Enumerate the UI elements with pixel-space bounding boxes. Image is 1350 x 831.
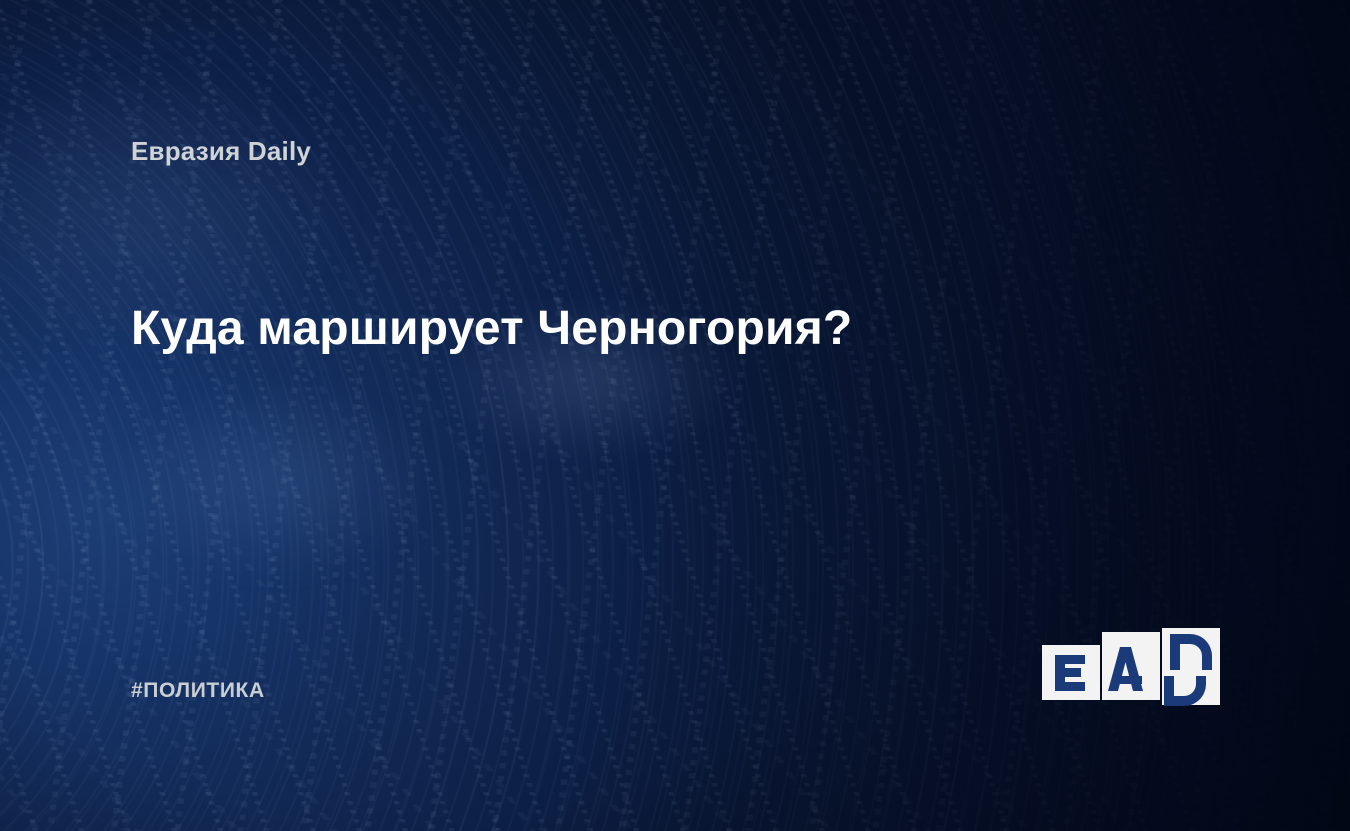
category-hashtag[interactable]: #ПОЛИТИКА bbox=[131, 679, 265, 703]
site-name: Евразия Daily bbox=[131, 136, 311, 167]
ead-logo-icon bbox=[1042, 620, 1222, 708]
article-headline: Куда марширует Черногория? bbox=[131, 300, 1031, 358]
social-share-card: Евразия Daily Куда марширует Черногория?… bbox=[0, 0, 1350, 831]
card-content: Евразия Daily Куда марширует Черногория?… bbox=[0, 0, 1350, 831]
ead-logo[interactable] bbox=[1042, 620, 1222, 708]
